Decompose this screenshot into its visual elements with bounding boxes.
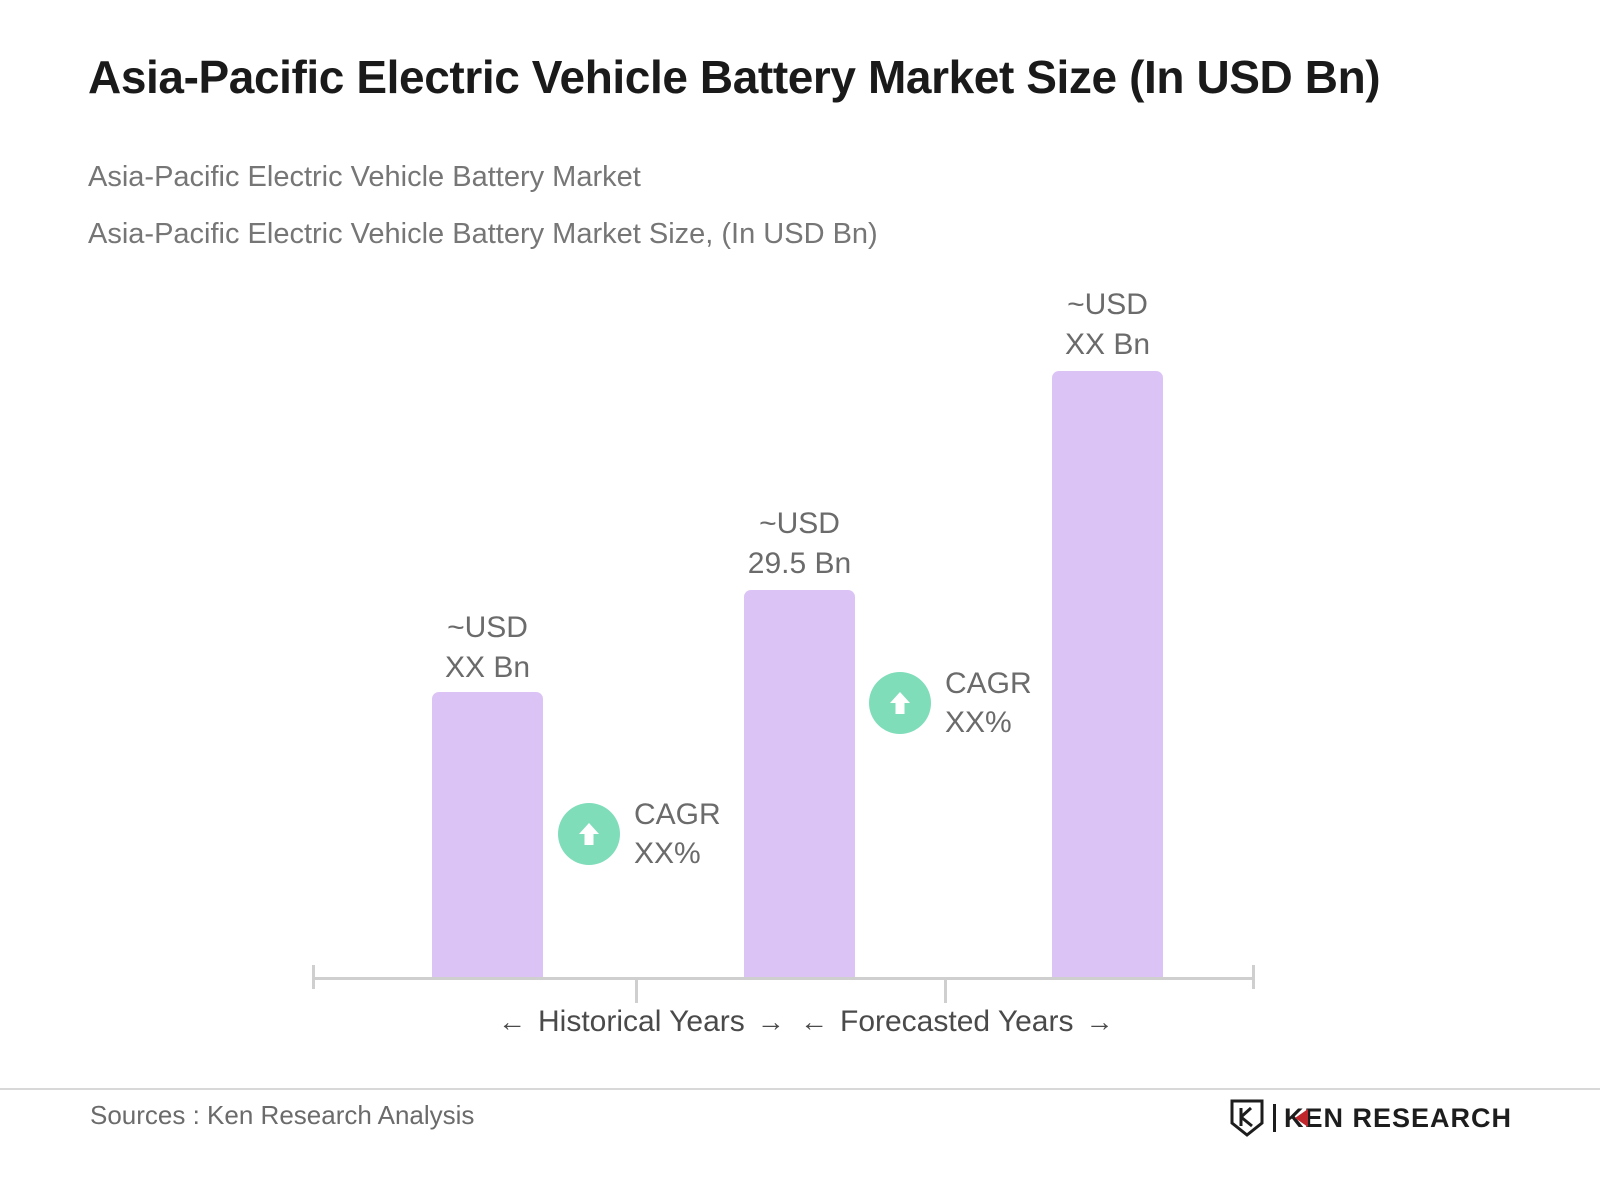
x-axis-cap-right xyxy=(1252,965,1255,989)
slide-canvas: Asia-Pacific Electric Vehicle Battery Ma… xyxy=(0,0,1600,1200)
cagr-annotation-1[interactable]: CAGRXX% xyxy=(558,795,721,873)
axis-span-historical: ← Historical Years → xyxy=(498,1005,785,1039)
cagr-1-line1: CAGR xyxy=(634,798,721,831)
cagr-annotation-2[interactable]: CAGRXX% xyxy=(869,664,1032,742)
bar-3-value-line1: ~USD xyxy=(1067,288,1148,321)
bar-2-value-line1: ~USD xyxy=(759,507,840,540)
logo-k-letter: K xyxy=(1284,1103,1305,1134)
cagr-annotation-1-text: CAGRXX% xyxy=(634,795,721,873)
cagr-annotation-2-text: CAGRXX% xyxy=(945,664,1032,742)
right-arrow-icon: → xyxy=(1085,1008,1113,1036)
cagr-2-line1: CAGR xyxy=(945,667,1032,700)
logo-separator xyxy=(1273,1104,1276,1132)
bar-1-value-line1: ~USD xyxy=(447,611,528,644)
axis-span-forecasted: ← Forecasted Years → xyxy=(800,1005,1113,1039)
x-axis-cap-left xyxy=(312,965,315,989)
ken-research-logo: KEN RESEARCH xyxy=(1229,1098,1512,1138)
bar-3-value-label: ~USDXX Bn xyxy=(997,285,1218,364)
arrow-up-icon xyxy=(869,672,931,734)
arrow-up-icon xyxy=(558,803,620,865)
bar-3[interactable] xyxy=(1052,371,1163,978)
x-axis-line xyxy=(312,977,1255,980)
axis-span-forecasted-label: Forecasted Years xyxy=(840,1005,1073,1039)
bar-1[interactable] xyxy=(432,692,543,978)
logo-rest-text: EN RESEARCH xyxy=(1304,1103,1512,1134)
left-arrow-icon: ← xyxy=(800,1008,828,1036)
logo-red-triangle-icon xyxy=(1295,1109,1308,1127)
chart-plot-area: ~USDXX Bn ~USD29.5 Bn ~USDXX Bn CAGRXX% … xyxy=(0,0,1600,1060)
sources-text: Sources : Ken Research Analysis xyxy=(90,1100,474,1131)
axis-span-historical-label: Historical Years xyxy=(538,1005,745,1039)
x-axis-tick-2 xyxy=(944,977,947,1003)
cagr-2-line2: XX% xyxy=(945,706,1012,739)
x-axis-tick-1 xyxy=(635,977,638,1003)
cagr-1-line2: XX% xyxy=(634,837,701,870)
bar-2-value-label: ~USD29.5 Bn xyxy=(689,504,910,583)
footer-divider xyxy=(0,1088,1600,1090)
shield-k-icon xyxy=(1229,1099,1265,1137)
bar-2-value-line2: 29.5 Bn xyxy=(748,547,851,580)
bar-1-value-label: ~USDXX Bn xyxy=(377,608,598,687)
bar-1-value-line2: XX Bn xyxy=(445,651,530,684)
right-arrow-icon: → xyxy=(757,1008,785,1036)
logo-wordmark: KEN RESEARCH xyxy=(1284,1103,1512,1134)
left-arrow-icon: ← xyxy=(498,1008,526,1036)
bar-3-value-line2: XX Bn xyxy=(1065,328,1150,361)
bar-2[interactable] xyxy=(744,590,855,978)
